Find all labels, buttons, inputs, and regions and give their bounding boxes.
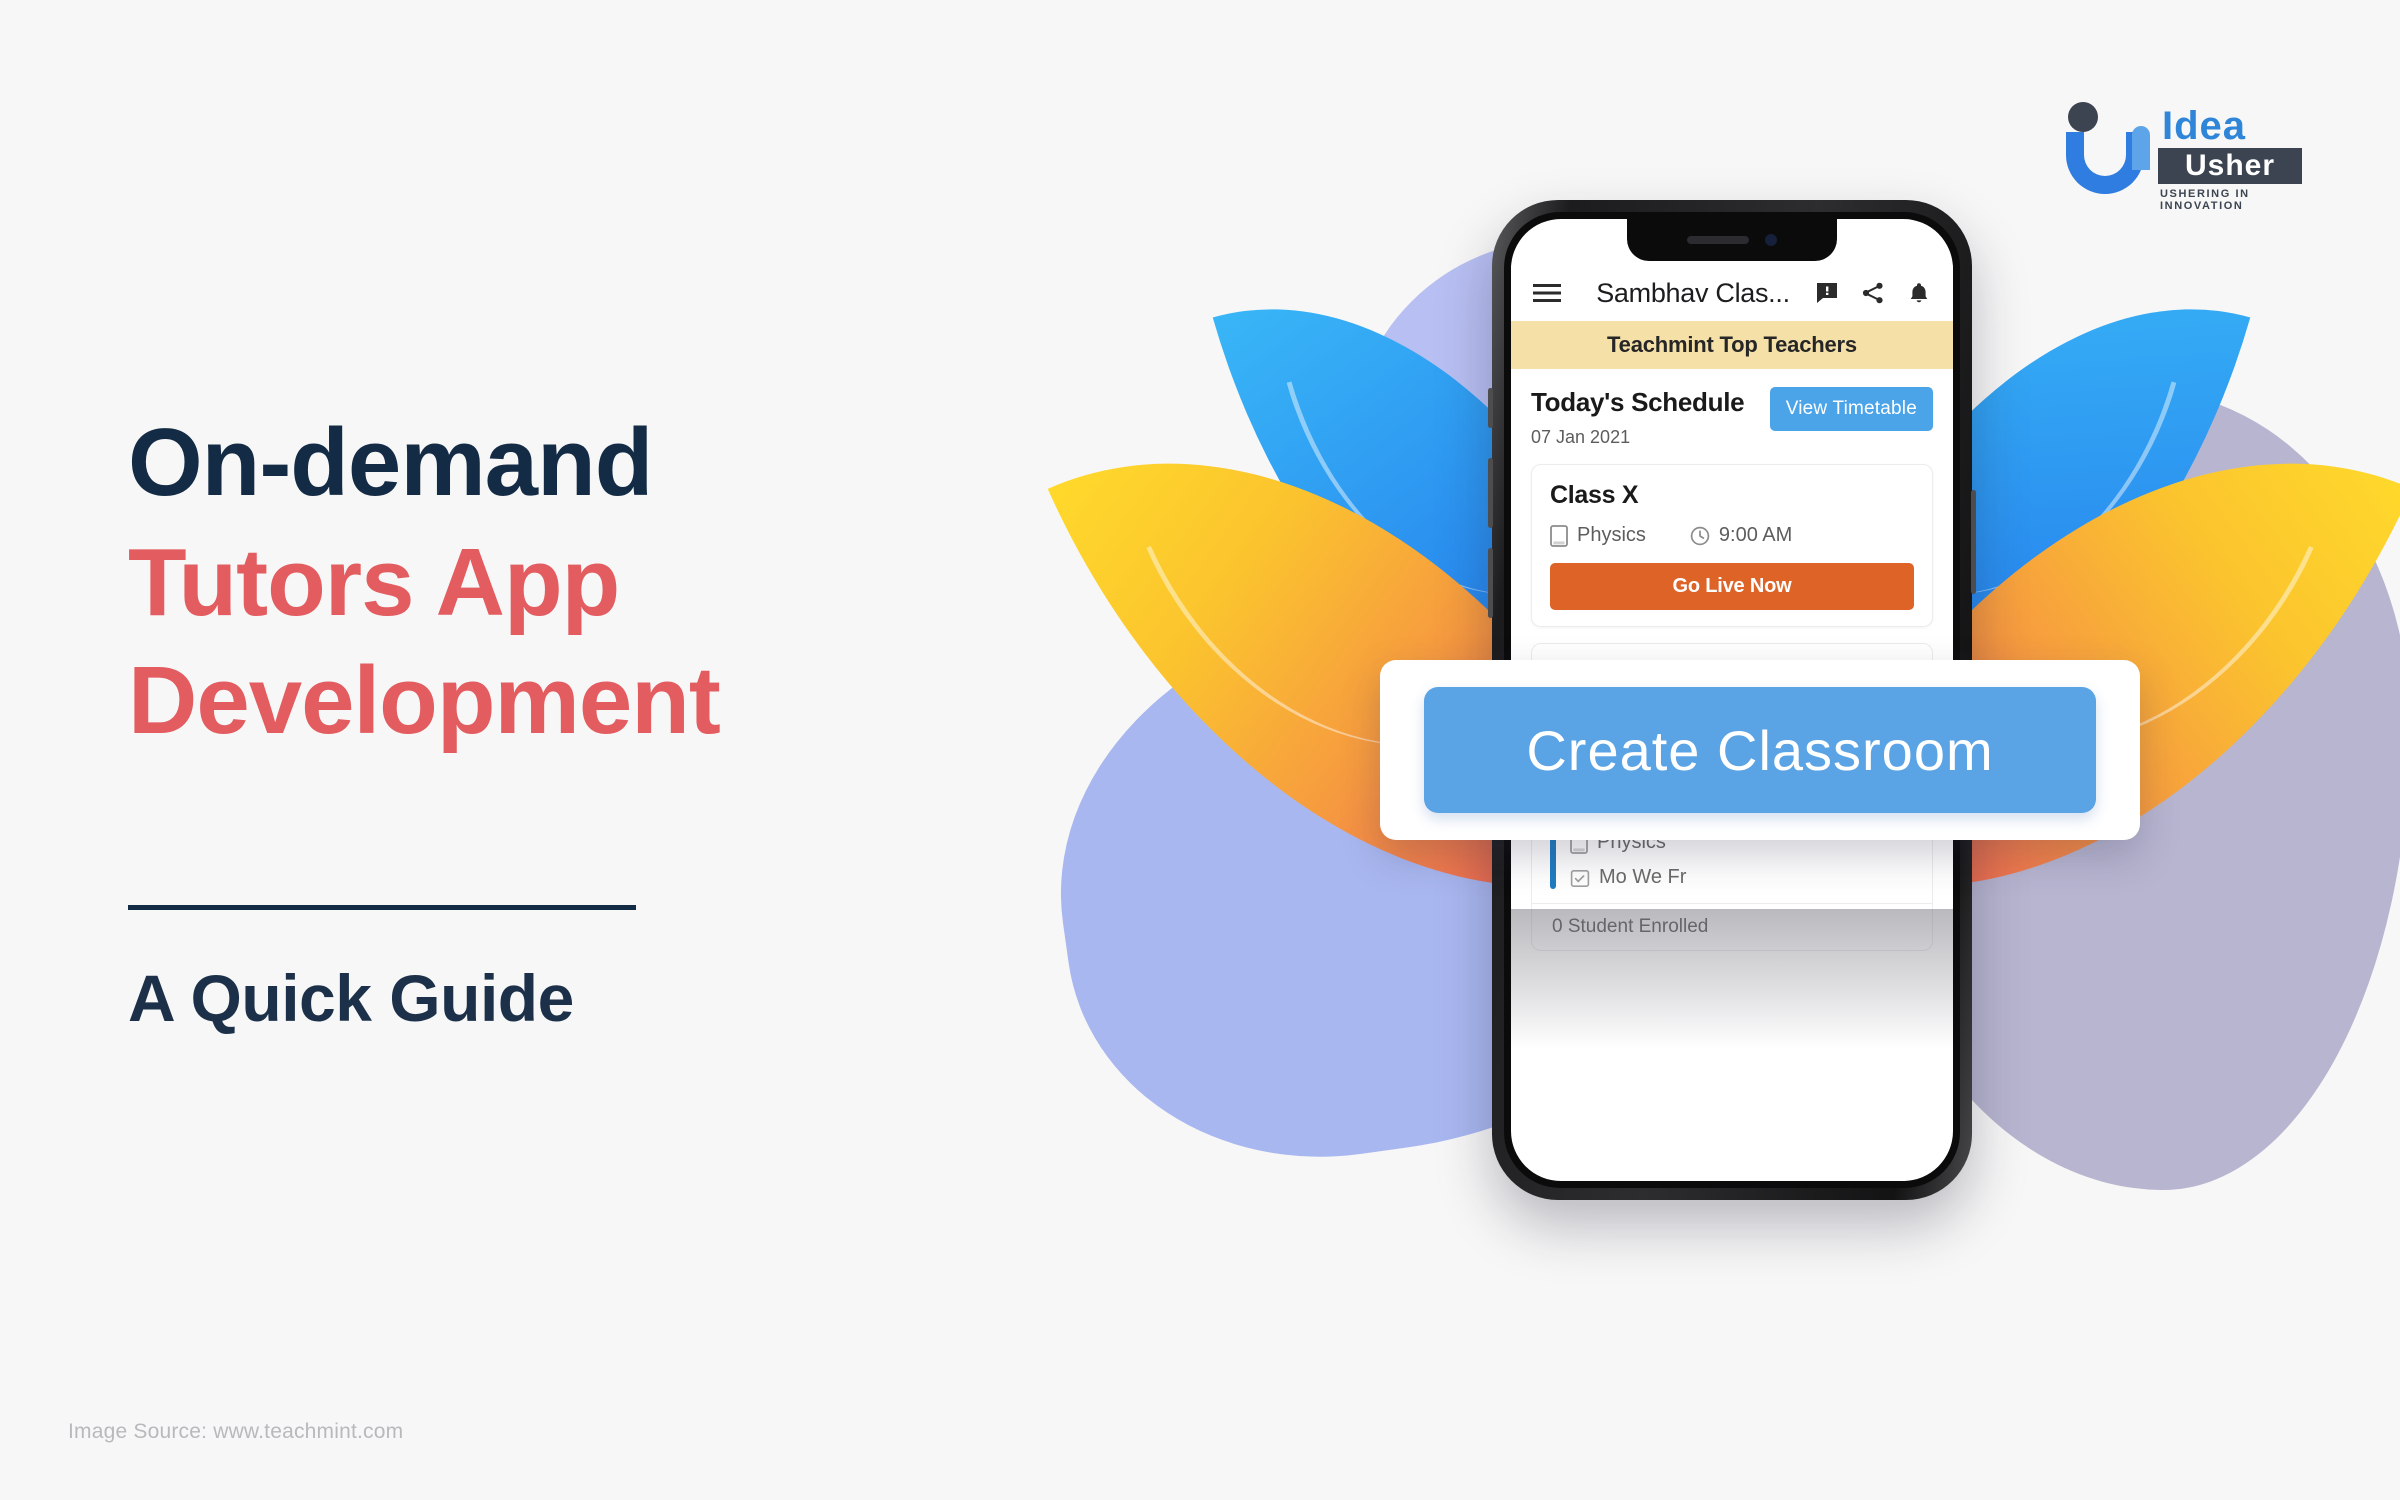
app-title: Sambhav Clas... — [1571, 278, 1815, 309]
class-card-meta-row: Physics 9:00 AM — [1550, 524, 1914, 547]
earpiece-speaker-icon — [1687, 236, 1749, 244]
headline-line-1: On-demand — [128, 415, 1128, 511]
headline-line-3: Development — [128, 653, 1128, 749]
schedule-date: 07 Jan 2021 — [1531, 427, 1744, 448]
clock-icon — [1690, 526, 1710, 546]
hamburger-menu-icon[interactable] — [1533, 283, 1561, 303]
class-card-subject-label: Physics — [1577, 524, 1646, 547]
headline-line-2: Tutors App — [128, 535, 1128, 631]
schedule-header: Today's Schedule 07 Jan 2021 View Timeta… — [1511, 369, 1953, 448]
image-source-credit: Image Source: www.teachmint.com — [68, 1420, 403, 1444]
illustration-stage: Sambhav Clas... — [1060, 180, 2400, 1280]
schedule-title: Today's Schedule — [1531, 387, 1744, 418]
phone-silent-switch[interactable] — [1488, 388, 1493, 428]
phone-volume-up-button[interactable] — [1488, 458, 1493, 528]
logo-dot-icon — [2068, 102, 2098, 132]
go-live-now-button[interactable]: Go Live Now — [1550, 563, 1914, 610]
class-schedule-card[interactable]: Class X Physics — [1531, 464, 1933, 627]
headline-block: On-demand Tutors App Development — [128, 415, 1128, 749]
logo-usher-text: Usher — [2185, 149, 2275, 183]
subheadline: A Quick Guide — [128, 960, 574, 1036]
phone-power-button[interactable] — [1971, 490, 1976, 594]
schedule-title-group: Today's Schedule 07 Jan 2021 — [1531, 387, 1744, 448]
view-timetable-button[interactable]: View Timetable — [1770, 387, 1933, 431]
phone-volume-down-button[interactable] — [1488, 548, 1493, 618]
classroom-days-label: Mo We Fr — [1599, 866, 1686, 889]
logo-u-stem-icon — [2132, 126, 2150, 170]
class-card-subject: Physics — [1550, 524, 1646, 547]
phone-notch — [1627, 219, 1837, 261]
front-camera-icon — [1765, 234, 1777, 246]
classroom-enrolled: 0 Student Enrolled — [1532, 903, 1932, 950]
book-icon — [1550, 525, 1568, 547]
headline-divider — [128, 905, 636, 910]
feedback-chat-icon[interactable] — [1815, 281, 1839, 305]
create-classroom-overlay-card: Create Classroom — [1380, 660, 2140, 840]
classroom-days: Mo We Fr — [1570, 866, 1747, 889]
class-card-time: 9:00 AM — [1690, 524, 1792, 547]
logo-usher-box: Usher — [2158, 148, 2302, 184]
create-classroom-button[interactable]: Create Classroom — [1424, 687, 2096, 813]
logo-idea-text: Idea — [2162, 104, 2246, 149]
calendar-check-icon — [1570, 868, 1590, 888]
notification-bell-icon[interactable] — [1907, 281, 1931, 305]
class-card-title: Class X — [1550, 481, 1914, 510]
top-teachers-banner: Teachmint Top Teachers — [1511, 321, 1953, 369]
class-card-time-label: 9:00 AM — [1719, 524, 1792, 547]
share-icon[interactable] — [1861, 281, 1885, 305]
app-bar: Sambhav Clas... — [1511, 265, 1953, 321]
